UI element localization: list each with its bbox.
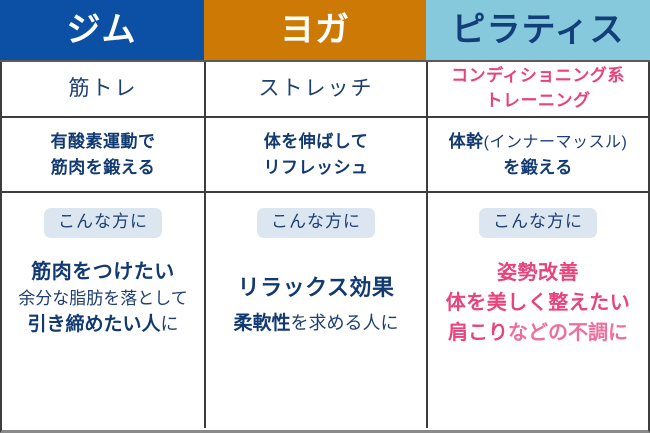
target-gym-line3-bold: 引き締めたい人 (27, 314, 160, 335)
subtitle-pilates-line2: トレーニング (486, 89, 591, 114)
target-cell-yoga: こんな方に リラックス効果 柔軟性を求める人に (206, 193, 428, 428)
subtitle-gym: 筋トレ (69, 75, 138, 102)
comparison-table: ジム ヨガ ピラティス 筋トレ ストレッチ コンディショニング系 トレーニング … (0, 0, 650, 433)
target-lines-yoga: リラックス効果 柔軟性を求める人に (210, 258, 422, 337)
table-row-subtitle: 筋トレ ストレッチ コンディショニング系 トレーニング (2, 62, 648, 118)
badge-yoga: こんな方に (257, 208, 375, 238)
description-cell-yoga: 体を伸ばして リフレッシュ (206, 118, 428, 191)
subtitle-cell-pilates: コンディショニング系 トレーニング (428, 62, 648, 116)
description-yoga-line1: 体を伸ばして (264, 129, 369, 155)
description-cell-pilates: 体幹(インナーマッスル) を鍛える (428, 118, 648, 191)
target-lines-gym: 筋肉をつけたい 余分な脂肪を落として 引き締めたい人に (6, 258, 200, 339)
header-cell-yoga: ヨガ (204, 0, 426, 60)
target-gym-line1: 筋肉をつけたい (6, 258, 200, 287)
description-cell-gym: 有酸素運動で 筋肉を鍛える (2, 118, 206, 191)
target-gym-line3: 引き締めたい人に (6, 311, 200, 339)
description-pilates-line1: 体幹(インナーマッスル) (449, 129, 628, 155)
table-row-target: こんな方に 筋肉をつけたい 余分な脂肪を落として 引き締めたい人に こんな方に … (2, 193, 648, 428)
description-pilates-line2: を鍛える (503, 155, 573, 181)
target-gym-line3-normal: に (161, 314, 179, 334)
target-yoga-line2: 柔軟性を求める人に (210, 310, 422, 338)
badge-gym: こんな方に (44, 208, 162, 238)
description-gym-line2: 筋肉を鍛える (51, 155, 156, 181)
subtitle-cell-gym: 筋トレ (2, 62, 206, 116)
target-pilates-line3-bold: 肩こり (448, 322, 508, 344)
target-cell-pilates: こんな方に 姿勢改善 体を美しく整えたい 肩こりなどの不調に (428, 193, 648, 428)
table-body: 筋トレ ストレッチ コンディショニング系 トレーニング 有酸素運動で 筋肉を鍛え… (0, 62, 650, 433)
description-yoga-line2: リフレッシュ (264, 155, 369, 181)
target-lines-pilates: 姿勢改善 体を美しく整えたい 肩こりなどの不調に (432, 258, 644, 348)
header-cell-gym: ジム (0, 0, 204, 60)
target-gym-line2: 余分な脂肪を落として (6, 287, 200, 312)
table-row-description: 有酸素運動で 筋肉を鍛える 体を伸ばして リフレッシュ 体幹(インナーマッスル)… (2, 118, 648, 193)
target-yoga-line2-bold: 柔軟性 (233, 313, 290, 334)
badge-pilates: こんな方に (479, 208, 597, 238)
target-pilates-line3-normal: などの不調に (508, 322, 628, 344)
subtitle-yoga: ストレッチ (259, 75, 374, 102)
subtitle-cell-yoga: ストレッチ (206, 62, 428, 116)
header-cell-pilates: ピラティス (426, 0, 650, 60)
target-yoga-line2-normal: を求める人に (291, 313, 399, 333)
target-yoga-line1: リラックス効果 (210, 272, 422, 304)
description-gym-line1: 有酸素運動で (51, 129, 156, 155)
description-pilates-paren: (インナーマッスル) (484, 134, 628, 151)
description-pilates-core: 体幹 (449, 132, 484, 151)
target-pilates-line1: 姿勢改善 (432, 258, 644, 288)
target-pilates-line3: 肩こりなどの不調に (432, 318, 644, 348)
target-pilates-line2: 体を美しく整えたい (432, 288, 644, 318)
subtitle-pilates-line1: コンディショニング系 (451, 64, 625, 89)
target-cell-gym: こんな方に 筋肉をつけたい 余分な脂肪を落として 引き締めたい人に (2, 193, 206, 428)
table-header-row: ジム ヨガ ピラティス (0, 0, 650, 60)
